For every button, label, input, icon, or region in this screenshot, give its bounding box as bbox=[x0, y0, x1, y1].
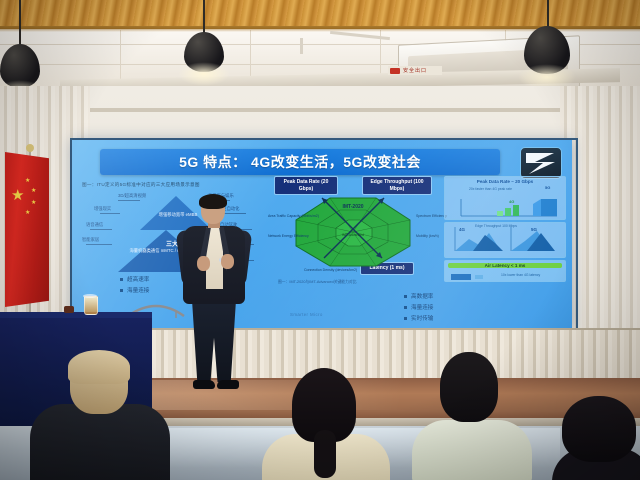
flag-star-small: ★ bbox=[25, 178, 30, 184]
flag-pole-knob bbox=[26, 144, 34, 152]
audience-member-3 bbox=[412, 352, 532, 480]
exit-sign-label: 安全出口 bbox=[403, 67, 427, 74]
presenter-hair bbox=[199, 194, 227, 209]
glass-rim bbox=[83, 294, 97, 298]
audience-member-1 bbox=[30, 352, 170, 480]
audience-head bbox=[440, 352, 498, 422]
flag-star-small: ★ bbox=[31, 188, 36, 194]
audience-body bbox=[412, 420, 532, 480]
exit-sign: 安全出口 bbox=[388, 66, 442, 75]
ac-pipe bbox=[300, 38, 303, 54]
presenter-left-hand bbox=[197, 256, 210, 271]
presenter-shoe bbox=[217, 380, 239, 389]
wall-trim bbox=[0, 108, 640, 112]
audience-hair bbox=[68, 350, 130, 384]
wooden-ceiling-beam bbox=[0, 0, 640, 29]
presenter-shoe bbox=[193, 380, 215, 389]
drinking-glass bbox=[84, 296, 98, 315]
lamp-glow bbox=[178, 62, 230, 86]
presenter-right-hand bbox=[221, 254, 234, 269]
flag-star-small: ★ bbox=[25, 210, 30, 216]
audience-member-2 bbox=[262, 368, 390, 480]
presenter-trousers bbox=[192, 300, 236, 382]
pendant-lamp-cord bbox=[19, 0, 21, 46]
audience-ponytail bbox=[314, 430, 336, 478]
flag-star-large: ★ bbox=[11, 188, 24, 203]
presenter bbox=[175, 196, 255, 402]
pendant-lamp-cord bbox=[203, 0, 205, 34]
presentation-photo-scene: 安全出口 5G 特点： 4G改变生活，5G改变社会 图一：ITU定义的5G标准中… bbox=[0, 0, 640, 480]
audience-member-4 bbox=[552, 396, 640, 480]
pendant-lamp-cord bbox=[547, 0, 549, 28]
chinese-national-flag: ★ ★ ★ ★ ★ bbox=[5, 152, 49, 307]
audience-body bbox=[30, 404, 170, 480]
table-object bbox=[64, 306, 74, 313]
flag-star-small: ★ bbox=[31, 200, 36, 206]
running-man-icon bbox=[390, 68, 400, 74]
audience-head bbox=[562, 396, 636, 462]
